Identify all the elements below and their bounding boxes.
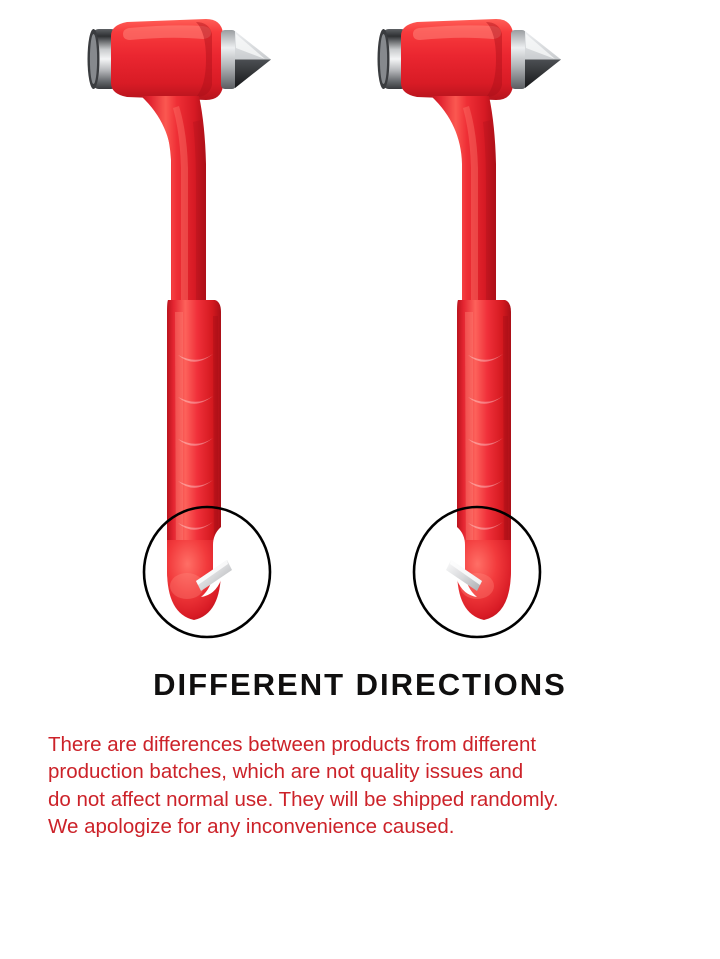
hammer-head-point-tip: [221, 30, 271, 89]
product-figure: [0, 0, 720, 660]
disclaimer-line-1: There are differences between products f…: [48, 731, 720, 759]
text-block: DIFFERENT DIRECTIONS There are differenc…: [0, 655, 720, 841]
disclaimer-line-3: do not affect normal use. They will be s…: [48, 786, 720, 814]
disclaimer-line-2: production batches, which are not qualit…: [48, 758, 720, 786]
hammer-head-point-tip: [511, 30, 561, 89]
headline: DIFFERENT DIRECTIONS: [0, 655, 720, 702]
hammer-head-body: [111, 19, 223, 100]
disclaimer-text: There are differences between products f…: [0, 702, 720, 841]
hammer-right: [365, 0, 595, 660]
hammer-shaft: [431, 96, 496, 305]
hammer-head-body: [401, 19, 513, 100]
hammer-left: [75, 0, 305, 660]
hammer-shaft: [141, 96, 206, 305]
disclaimer-line-4: We apologize for any inconvenience cause…: [48, 813, 720, 841]
